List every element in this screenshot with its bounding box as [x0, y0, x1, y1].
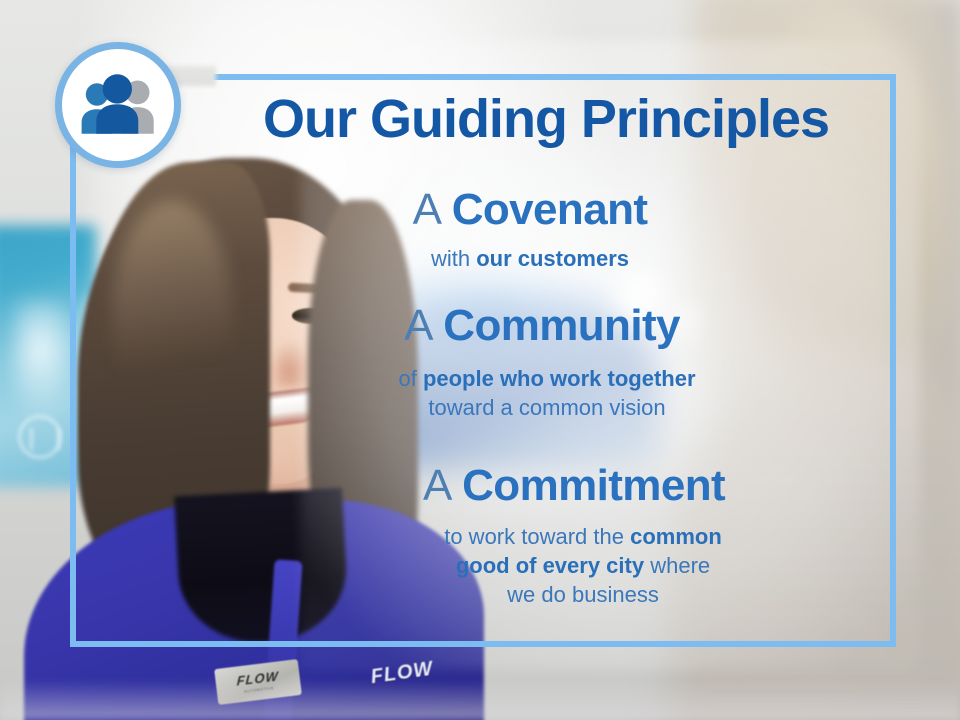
principle-lead: A [423, 461, 462, 510]
principle-keyword: Commitment [462, 461, 725, 510]
principle-lead: A [413, 185, 452, 234]
subtext-part: where [644, 553, 710, 578]
principle-community: A Community of people who work together … [200, 302, 860, 422]
subtext-part-bold: good of every city [456, 553, 644, 578]
principle-keyword: Covenant [452, 185, 648, 234]
principle-headline: A Commitment [200, 462, 880, 510]
poster-canvas: FLOW AUTOMOTIVE FLOW [0, 0, 960, 720]
desk-surface [0, 680, 960, 720]
subtext-part: we do business [507, 582, 659, 607]
principle-keyword: Community [443, 301, 680, 350]
vw-roundel-icon [18, 415, 62, 459]
subtext-part-bold: people who work together [423, 366, 696, 391]
subtext-part: toward a common vision [428, 395, 665, 420]
subtext-row: toward a common vision [234, 393, 860, 422]
subtext-row: of people who work together [234, 364, 860, 393]
principle-subtext: with our customers [200, 244, 860, 273]
principle-headline: A Community [200, 302, 860, 350]
people-badge [55, 42, 181, 168]
principle-subtext: of people who work together toward a com… [200, 364, 860, 422]
principle-subtext: to work toward the common good of every … [200, 522, 880, 609]
subtext-part: of [398, 366, 422, 391]
principle-headline: A Covenant [200, 186, 860, 234]
subtext-part-bold: our customers [476, 246, 629, 271]
subtext-row: good of every city where [286, 551, 880, 580]
people-group-icon [76, 72, 160, 138]
subtext-part: to work toward the [444, 524, 630, 549]
subtext-part-bold: common [630, 524, 722, 549]
principle-covenant: A Covenant with our customers [200, 186, 860, 273]
page-title: Our Guiding Principles [216, 92, 876, 147]
principle-lead: A [404, 301, 443, 350]
subtext-row: we do business [286, 580, 880, 609]
subtext-part: with [431, 246, 476, 271]
principle-commitment: A Commitment to work toward the common g… [200, 462, 880, 609]
subtext-row: to work toward the common [286, 522, 880, 551]
